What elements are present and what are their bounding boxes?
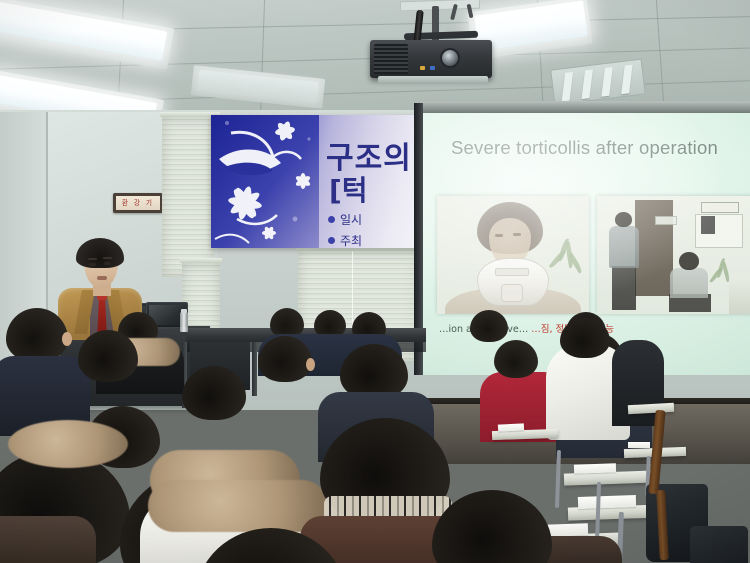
audience-ear	[306, 358, 315, 371]
audience-head	[470, 310, 508, 342]
standing-person-head	[615, 212, 632, 227]
banner-bullet-item: 일시	[328, 211, 362, 228]
slide-image-clinic-room	[597, 196, 750, 314]
event-banner: 구조의 [턱 일시 주최	[211, 115, 426, 248]
speaker-brow-right	[103, 257, 112, 259]
potted-plant	[549, 238, 585, 294]
lecture-hall-photo: 환 강 기	[0, 0, 750, 563]
ceiling-vent	[550, 59, 646, 106]
window-blinds-left	[162, 117, 214, 277]
audience-head	[560, 318, 610, 358]
desk-paper	[628, 442, 650, 448]
banner-floral-artwork	[211, 115, 319, 248]
bullet-dot-icon	[328, 216, 335, 223]
seated-person-head	[679, 252, 699, 270]
whiteboard-dark-patch	[701, 216, 715, 234]
wall-plaque-sign: 환 강 기	[113, 193, 163, 213]
room-door	[635, 200, 673, 296]
wall-frame	[701, 202, 739, 213]
floral-svg	[211, 115, 319, 248]
banner-bullet-label: 주최	[340, 232, 362, 248]
audience-ear	[62, 332, 72, 346]
audience-torso	[0, 516, 96, 563]
collar-strap	[495, 268, 529, 276]
floor-bag	[690, 526, 748, 563]
audience-head	[182, 366, 246, 420]
banner-bullet-label: 일시	[340, 211, 362, 228]
patient-eye-right	[513, 233, 521, 236]
desk-paper	[498, 423, 524, 431]
speaker-brow-left	[88, 258, 97, 260]
standing-person-torso	[609, 226, 639, 268]
chair-frame	[555, 450, 561, 508]
projector-lens	[440, 48, 460, 68]
wall-plaque-text: 환 강 기	[122, 200, 154, 207]
seated-person-torso	[670, 268, 708, 298]
audience	[0, 300, 750, 563]
wall-plaque-inner: 환 강 기	[116, 196, 160, 210]
slide-image-patient-collar	[437, 196, 589, 314]
slide-title: Severe torticollis after operation	[451, 137, 718, 159]
banner-bullet-list: 일시 주최	[328, 211, 362, 248]
door-sign	[655, 216, 677, 225]
speaker-eye-left	[89, 263, 96, 266]
desk-paper	[574, 463, 616, 473]
desk-surface	[628, 403, 674, 414]
patient-eye-left	[495, 234, 503, 237]
banner-title-line2: [턱	[329, 169, 368, 209]
speaker-mouth	[97, 276, 107, 280]
projector-base-plate	[378, 76, 488, 84]
fur-collar	[8, 420, 128, 468]
audience-head	[494, 340, 538, 378]
audience-head	[6, 308, 68, 362]
projection-screen-valance	[420, 101, 750, 113]
audience-head	[78, 330, 138, 382]
speaker-eye-right	[104, 262, 111, 265]
bullet-dot-icon	[328, 237, 335, 244]
fur-trimmed-hood	[148, 480, 328, 532]
projector-led-amber	[420, 66, 425, 70]
audience-head	[258, 336, 312, 382]
projector-led-blue	[430, 66, 435, 70]
desk-papers-stack	[578, 495, 636, 509]
banner-bullet-item: 주최	[328, 232, 362, 248]
projector-vent-grill	[374, 44, 408, 74]
